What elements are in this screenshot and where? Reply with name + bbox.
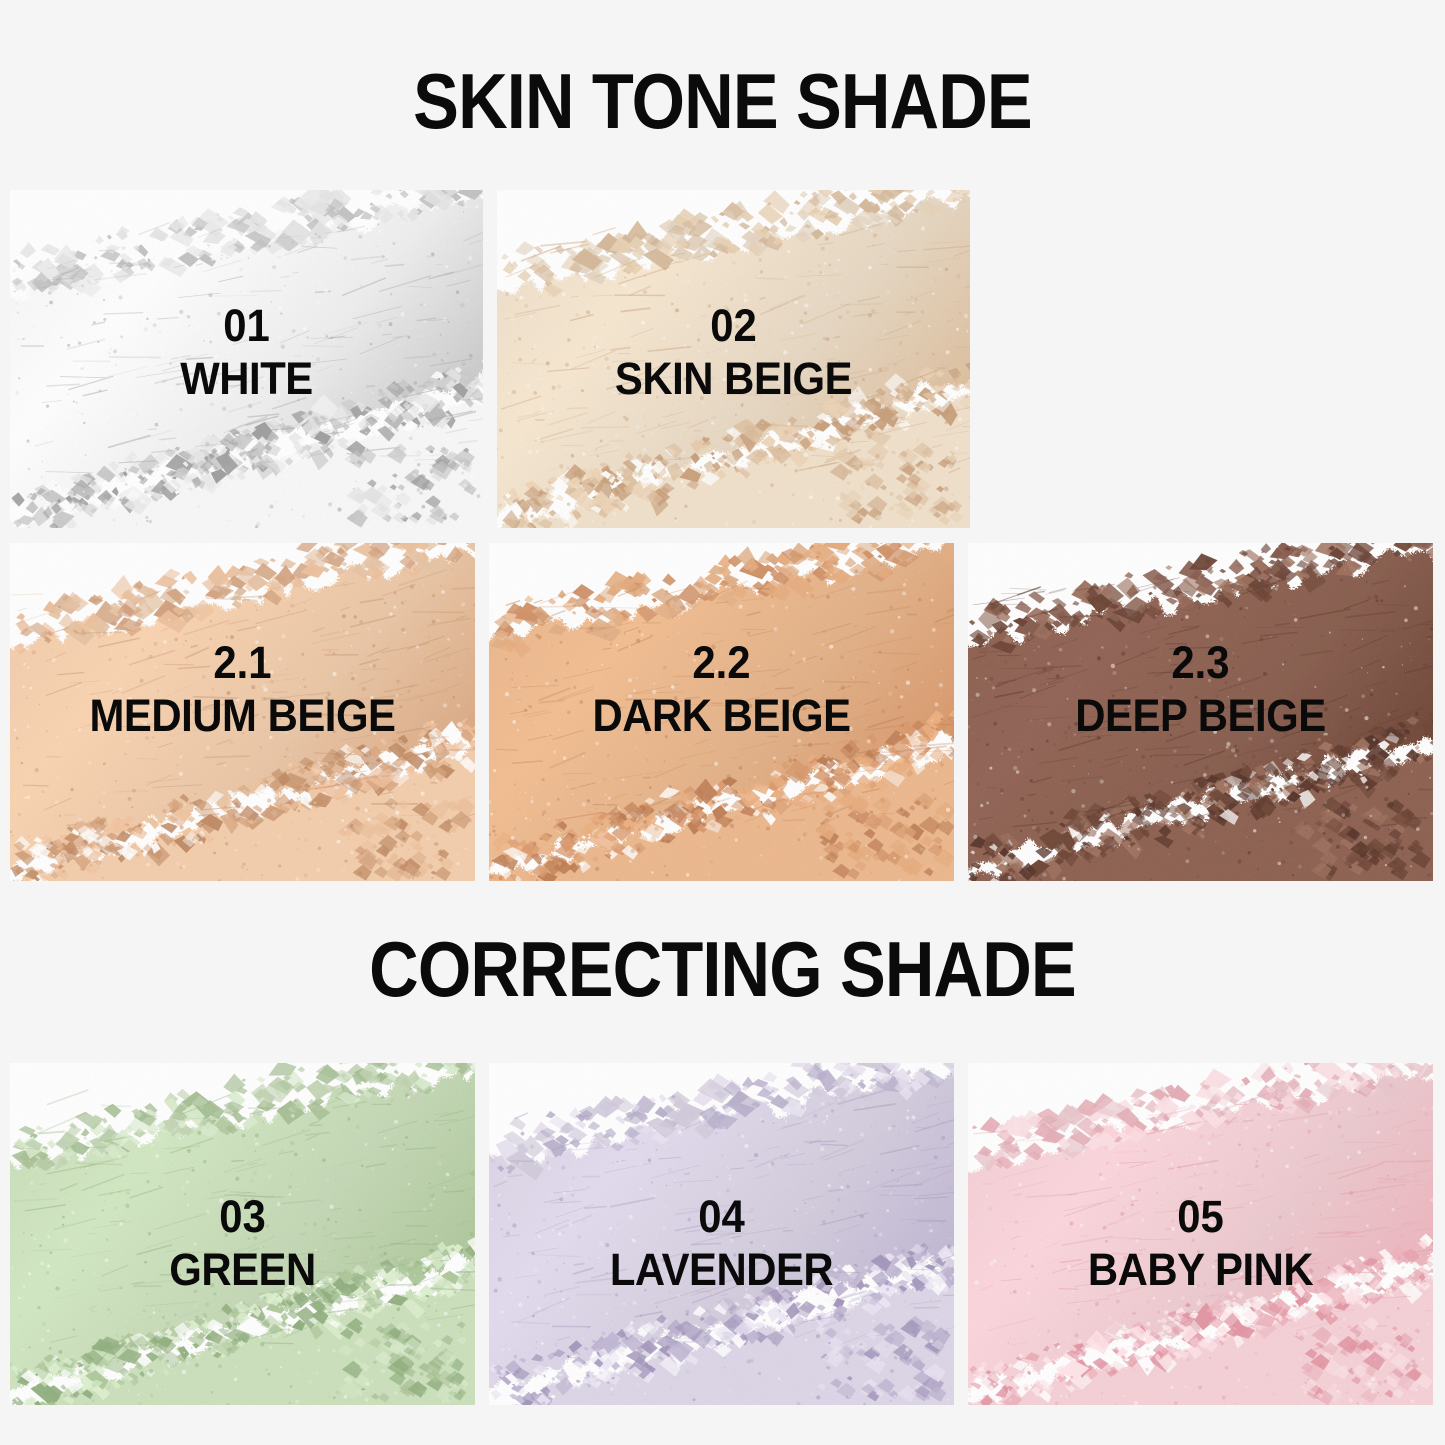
swatch-code: 2.3 [984, 639, 1416, 688]
swatch-caption: 01 WHITE [10, 302, 483, 403]
swatch-tile-01-white[interactable]: 01 WHITE [10, 190, 483, 528]
swatch-name: LAVENDER [505, 1246, 937, 1295]
swatch-name: MEDIUM BEIGE [26, 692, 458, 741]
swatch-code: 02 [514, 302, 954, 351]
swatch-tile-04-lavender[interactable]: 04 LAVENDER [489, 1063, 954, 1405]
swatch-caption: 03 GREEN [10, 1193, 475, 1294]
section-heading-skin-tone: SKIN TONE SHADE [87, 62, 1359, 140]
swatch-code: 03 [26, 1193, 458, 1242]
swatch-caption: 2.2 DARK BEIGE [489, 639, 954, 740]
swatch-caption: 02 SKIN BEIGE [497, 302, 970, 403]
swatch-caption: 05 BABY PINK [968, 1193, 1433, 1294]
swatch-caption: 2.1 MEDIUM BEIGE [10, 639, 475, 740]
swatch-name: DARK BEIGE [505, 692, 937, 741]
section-heading-correcting: CORRECTING SHADE [87, 930, 1359, 1008]
swatch-code: 01 [27, 302, 467, 351]
swatch-row-correcting: 03 GREEN 04 LAVENDER 05 BABY PINK [10, 1063, 1433, 1405]
swatch-row-skin-tone-2: 2.1 MEDIUM BEIGE 2.2 DARK BEIGE 2.3 DEEP… [10, 543, 1433, 881]
swatch-row-skin-tone-1: 01 WHITE 02 SKIN BEIGE [10, 190, 1433, 528]
swatch-code: 05 [984, 1193, 1416, 1242]
shade-chart-page: SKIN TONE SHADE 01 WHITE 02 SKIN BEIGE 2… [0, 0, 1445, 1445]
swatch-name: BABY PINK [984, 1246, 1416, 1295]
swatch-tile-02-skin-beige[interactable]: 02 SKIN BEIGE [497, 190, 970, 528]
swatch-name: DEEP BEIGE [984, 692, 1416, 741]
swatch-name: GREEN [26, 1246, 458, 1295]
swatch-caption: 2.3 DEEP BEIGE [968, 639, 1433, 740]
swatch-code: 04 [505, 1193, 937, 1242]
swatch-tile-03-green[interactable]: 03 GREEN [10, 1063, 475, 1405]
swatch-code: 2.2 [505, 639, 937, 688]
swatch-tile-05-baby-pink[interactable]: 05 BABY PINK [968, 1063, 1433, 1405]
swatch-caption: 04 LAVENDER [489, 1193, 954, 1294]
swatch-code: 2.1 [26, 639, 458, 688]
swatch-name: WHITE [27, 355, 467, 404]
swatch-tile-23-deep-beige[interactable]: 2.3 DEEP BEIGE [968, 543, 1433, 881]
swatch-name: SKIN BEIGE [514, 355, 954, 404]
swatch-tile-22-dark-beige[interactable]: 2.2 DARK BEIGE [489, 543, 954, 881]
swatch-tile-21-medium-beige[interactable]: 2.1 MEDIUM BEIGE [10, 543, 475, 881]
